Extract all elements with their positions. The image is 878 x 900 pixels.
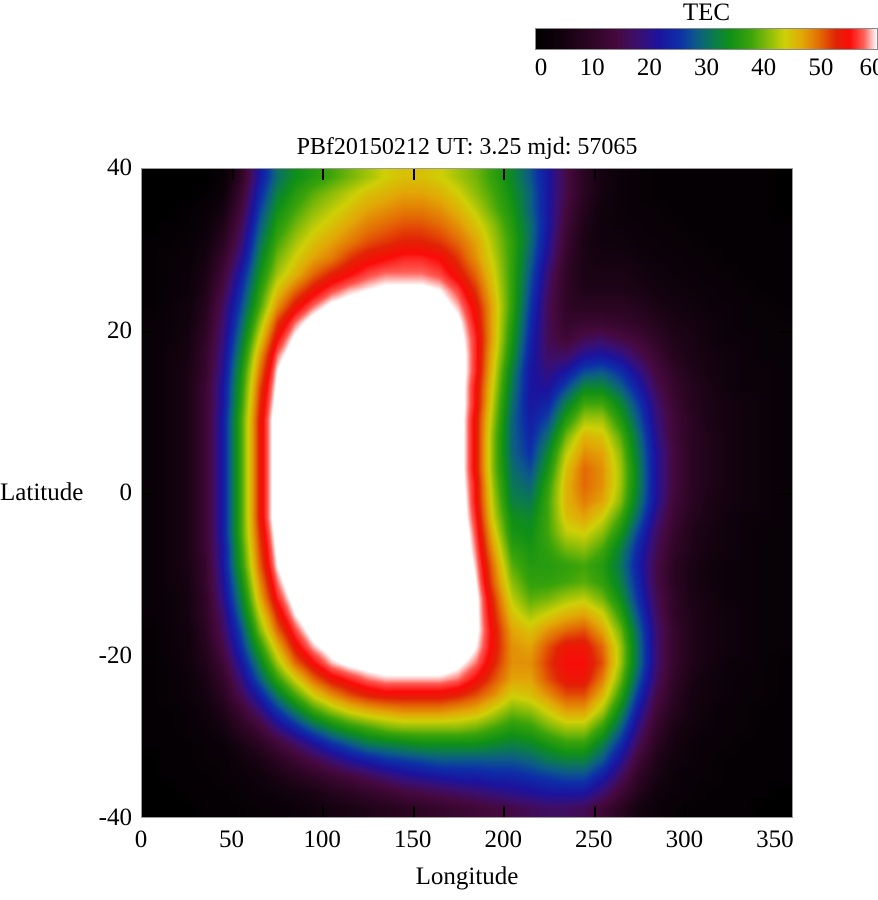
x-tick-mark: [594, 806, 596, 817]
x-tick-label-200: 200: [484, 824, 522, 856]
colorbar-tick-30: 30: [694, 53, 719, 83]
x-tick-mark-top: [503, 169, 505, 180]
y-tick-mark: [142, 331, 153, 333]
colorbar-tick-50: 50: [808, 53, 833, 83]
y-tick-mark-right: [781, 168, 792, 170]
x-tick-mark-top: [775, 169, 777, 180]
colorbar-gradient: [535, 28, 878, 50]
x-tick-mark: [413, 806, 415, 817]
figure-canvas: TEC 0102030405060 PBf20150212 UT: 3.25 m…: [0, 0, 878, 900]
x-tick-mark: [232, 806, 234, 817]
y-tick-label--40: -40: [6, 804, 132, 832]
y-tick-mark-right: [781, 331, 792, 333]
heatmap-plot-area: [141, 168, 793, 818]
x-tick-label-250: 250: [575, 824, 613, 856]
x-tick-mark: [775, 806, 777, 817]
x-tick-mark-top: [684, 169, 686, 180]
x-tick-mark-top: [232, 169, 234, 180]
x-tick-mark-top: [413, 169, 415, 180]
y-axis-title: Latitude: [0, 478, 120, 508]
x-tick-mark-top: [141, 169, 143, 180]
x-tick-label-50: 50: [219, 824, 244, 856]
y-tick-mark: [142, 493, 153, 495]
colorbar: [535, 28, 878, 50]
x-tick-label-350: 350: [756, 824, 794, 856]
x-tick-mark-top: [594, 169, 596, 180]
heatmap-raster: [142, 169, 792, 817]
colorbar-tick-labels: 0102030405060: [535, 53, 878, 87]
x-tick-label-150: 150: [394, 824, 432, 856]
y-tick-label-20: 20: [6, 317, 132, 345]
x-tick-mark-top: [322, 169, 324, 180]
x-axis-tick-labels: 050100150200250300350: [141, 824, 793, 858]
x-tick-mark: [503, 806, 505, 817]
x-tick-mark: [684, 806, 686, 817]
y-tick-label-40: 40: [6, 154, 132, 182]
x-tick-mark: [322, 806, 324, 817]
plot-title: PBf20150212 UT: 3.25 mjd: 57065: [141, 132, 793, 162]
y-tick-mark: [142, 168, 153, 170]
x-tick-label-300: 300: [666, 824, 704, 856]
x-tick-label-100: 100: [303, 824, 341, 856]
y-tick-mark-right: [781, 656, 792, 658]
x-tick-label-0: 0: [135, 824, 148, 856]
y-tick-mark: [142, 656, 153, 658]
x-axis-title: Longitude: [141, 862, 793, 892]
colorbar-title: TEC: [535, 0, 878, 26]
x-tick-mark: [141, 806, 143, 817]
colorbar-tick-10: 10: [580, 53, 605, 83]
colorbar-tick-0: 0: [535, 53, 548, 83]
y-tick-mark-right: [781, 493, 792, 495]
colorbar-tick-20: 20: [637, 53, 662, 83]
colorbar-tick-40: 40: [751, 53, 776, 83]
y-tick-label--20: -20: [6, 642, 132, 670]
colorbar-tick-60: 60: [860, 53, 878, 83]
